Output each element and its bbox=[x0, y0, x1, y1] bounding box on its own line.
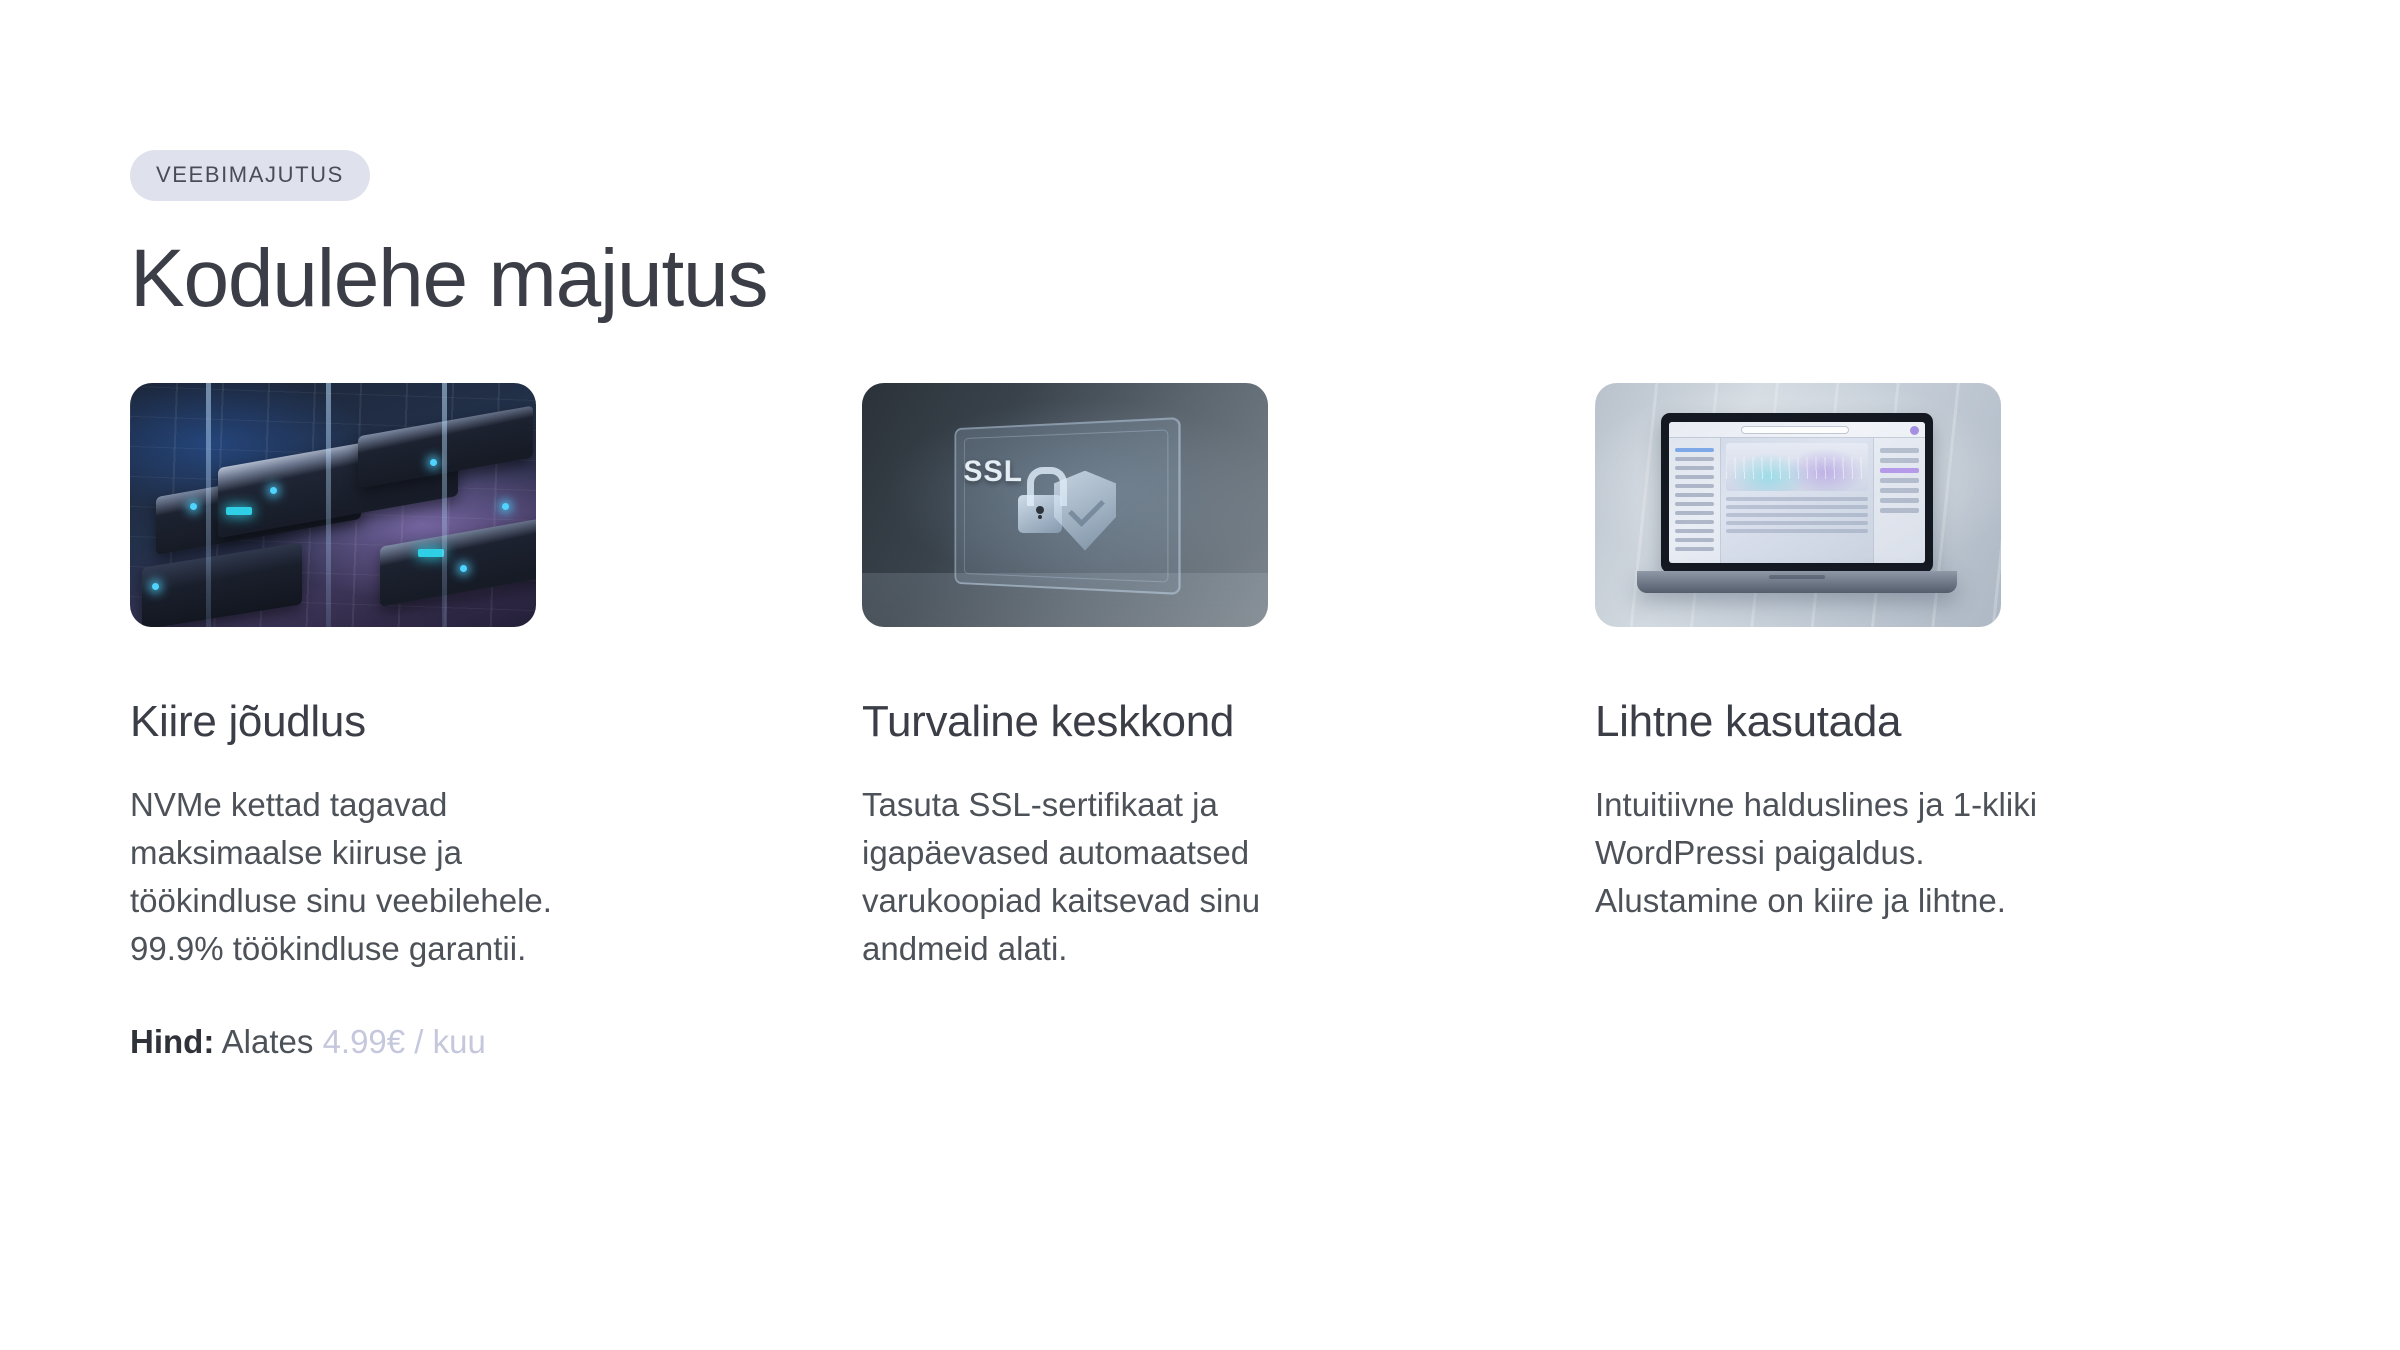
feature-card-security: SSL Turvaline keskkond Tasuta SSL-sertif… bbox=[862, 383, 1595, 1062]
feature-card-usability: Lihtne kasutada Intuitiivne halduslines … bbox=[1595, 383, 2328, 1062]
price-value: 4.99€ / kuu bbox=[323, 1023, 486, 1060]
ssl-text-overlay: SSL bbox=[963, 454, 1023, 489]
feature-cards-grid: Kiire jõudlus NVMe kettad tagavad maksim… bbox=[130, 383, 2400, 1062]
price-label: Hind: bbox=[130, 1023, 214, 1060]
ssl-lock-shield-photo: SSL bbox=[862, 383, 1268, 627]
hosting-feature-section: VEEBIMAJUTUS Kodulehe majutus bbox=[0, 0, 2400, 1350]
laptop-dashboard-photo bbox=[1595, 383, 2001, 627]
page-title: Kodulehe majutus bbox=[130, 237, 2400, 321]
card-title: Turvaline keskkond bbox=[862, 697, 1595, 747]
price-row: Hind: Alates 4.99€ / kuu bbox=[130, 1023, 862, 1061]
card-description: Intuitiivne halduslines ja 1-kliki WordP… bbox=[1595, 781, 2065, 926]
card-title: Lihtne kasutada bbox=[1595, 697, 2328, 747]
server-rack-photo bbox=[130, 383, 536, 627]
feature-card-performance: Kiire jõudlus NVMe kettad tagavad maksim… bbox=[130, 383, 862, 1062]
category-badge: VEEBIMAJUTUS bbox=[130, 150, 370, 201]
card-description: NVMe kettad tagavad maksimaalse kiiruse … bbox=[130, 781, 560, 974]
price-prefix: Alates bbox=[222, 1023, 314, 1060]
card-description: Tasuta SSL-sertifikaat ja igapäevased au… bbox=[862, 781, 1292, 974]
card-title: Kiire jõudlus bbox=[130, 697, 862, 747]
